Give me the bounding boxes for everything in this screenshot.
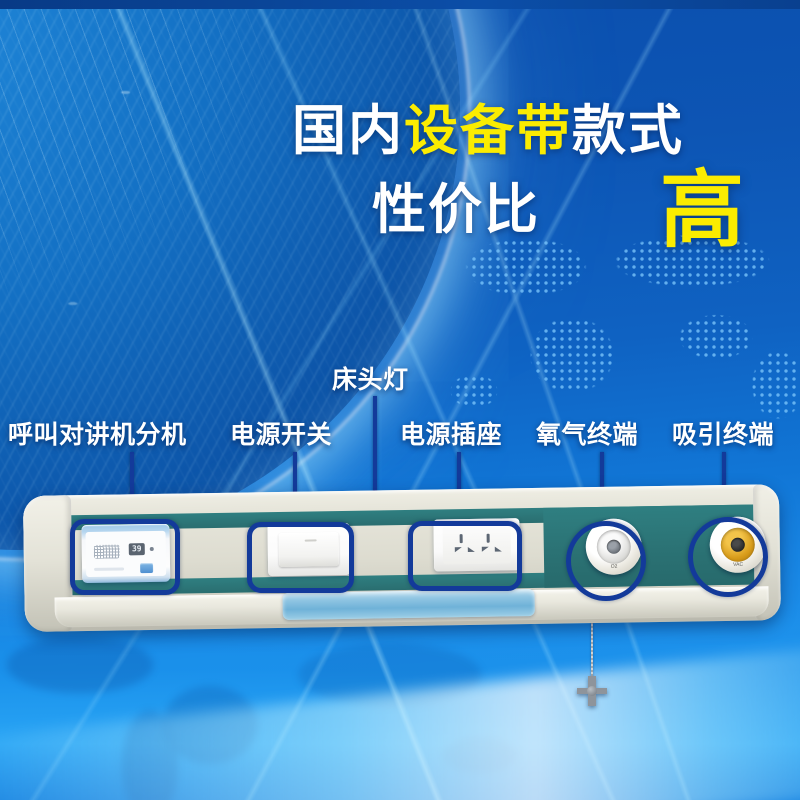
callout-label-power-outlet: 电源插座 [400, 415, 502, 451]
headline-line1-part1: 国内 [292, 101, 404, 161]
highlight-box-power-switch [247, 522, 354, 593]
callout-label-bed-lamp: 床头灯 [332, 360, 409, 396]
lamp-diffuser-icon[interactable] [282, 589, 534, 620]
highlight-box-intercom [70, 519, 180, 595]
headline-line1-highlight: 设备带 [404, 101, 572, 161]
top-edge-strip [0, 0, 800, 9]
callout-label-suction: 吸引终端 [672, 415, 774, 451]
headline-line-1: 国内设备带款式 [292, 86, 684, 165]
highlight-box-power-outlet [408, 521, 522, 591]
headline-emphasis-word: 高 [660, 143, 744, 264]
callout-label-oxygen: 氧气终端 [536, 415, 638, 451]
pull-cord-handle-icon[interactable] [577, 676, 607, 706]
headline-line2-part1: 性价比 [372, 180, 540, 240]
highlight-circle-suction [688, 517, 768, 597]
poster-canvas: 国内设备带款式 性价比 高 呼叫对讲机分机 电源开关 床头灯 电源插座 氧气终端… [0, 0, 800, 800]
headline-line-2: 性价比 [372, 165, 540, 244]
callout-label-intercom: 呼叫对讲机分机 [8, 415, 187, 451]
highlight-circle-oxygen [566, 521, 646, 601]
callout-label-power-switch: 电源开关 [230, 415, 332, 451]
